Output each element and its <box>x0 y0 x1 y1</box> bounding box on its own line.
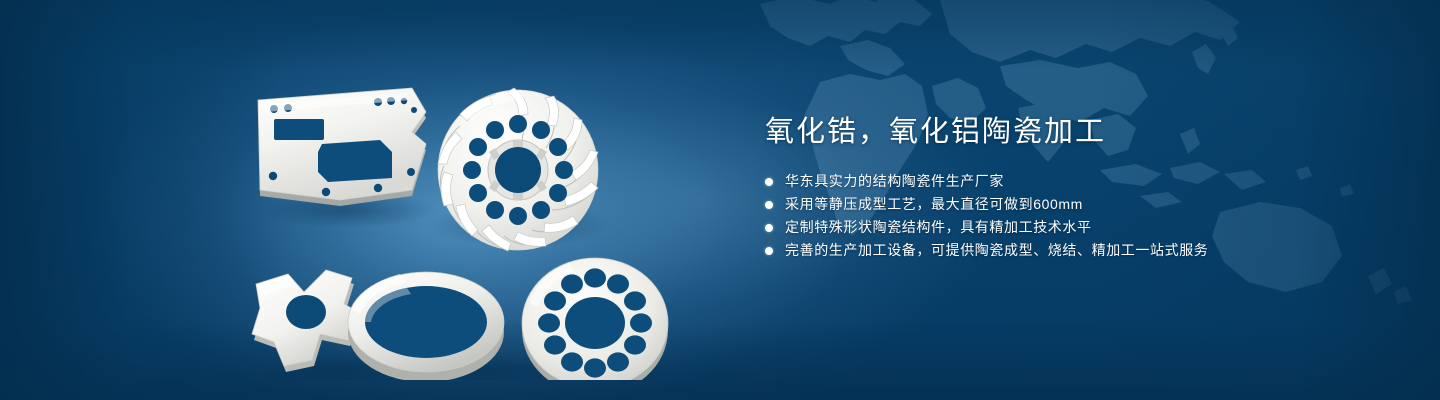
bullet-dot-icon <box>765 178 773 186</box>
ceramic-perforated-disc <box>522 258 668 380</box>
list-item-label: 采用等静压成型工艺，最大直径可做到600mm <box>785 193 1083 216</box>
ceramic-flat-plate <box>258 88 426 206</box>
promo-banner: 氧化锆，氧化铝陶瓷加工 华东具实力的结构陶瓷件生产厂家 采用等静压成型工艺，最大… <box>0 0 1440 400</box>
list-item: 定制特殊形状陶瓷结构件，具有精加工技术水平 <box>765 216 1385 239</box>
bullet-dot-icon <box>765 224 773 232</box>
page-title: 氧化锆，氧化铝陶瓷加工 <box>765 112 1385 152</box>
feature-list: 华东具实力的结构陶瓷件生产厂家 采用等静压成型工艺，最大直径可做到600mm 定… <box>765 170 1385 262</box>
list-item-label: 定制特殊形状陶瓷结构件，具有精加工技术水平 <box>785 216 1092 239</box>
list-item-label: 华东具实力的结构陶瓷件生产厂家 <box>785 170 1004 193</box>
list-item: 华东具实力的结构陶瓷件生产厂家 <box>765 170 1385 193</box>
list-item-label: 完善的生产加工设备，可提供陶瓷成型、烧结、精加工一站式服务 <box>785 239 1208 262</box>
bullet-dot-icon <box>765 201 773 209</box>
bullet-dot-icon <box>765 247 773 255</box>
ceramic-ring <box>348 272 504 380</box>
banner-copy: 氧化锆，氧化铝陶瓷加工 华东具实力的结构陶瓷件生产厂家 采用等静压成型工艺，最大… <box>765 112 1385 262</box>
list-item: 采用等静压成型工艺，最大直径可做到600mm <box>765 193 1385 216</box>
list-item: 完善的生产加工设备，可提供陶瓷成型、烧结、精加工一站式服务 <box>765 239 1385 262</box>
ceramic-impeller-wheel <box>438 88 598 251</box>
product-photo-collage <box>230 40 720 380</box>
